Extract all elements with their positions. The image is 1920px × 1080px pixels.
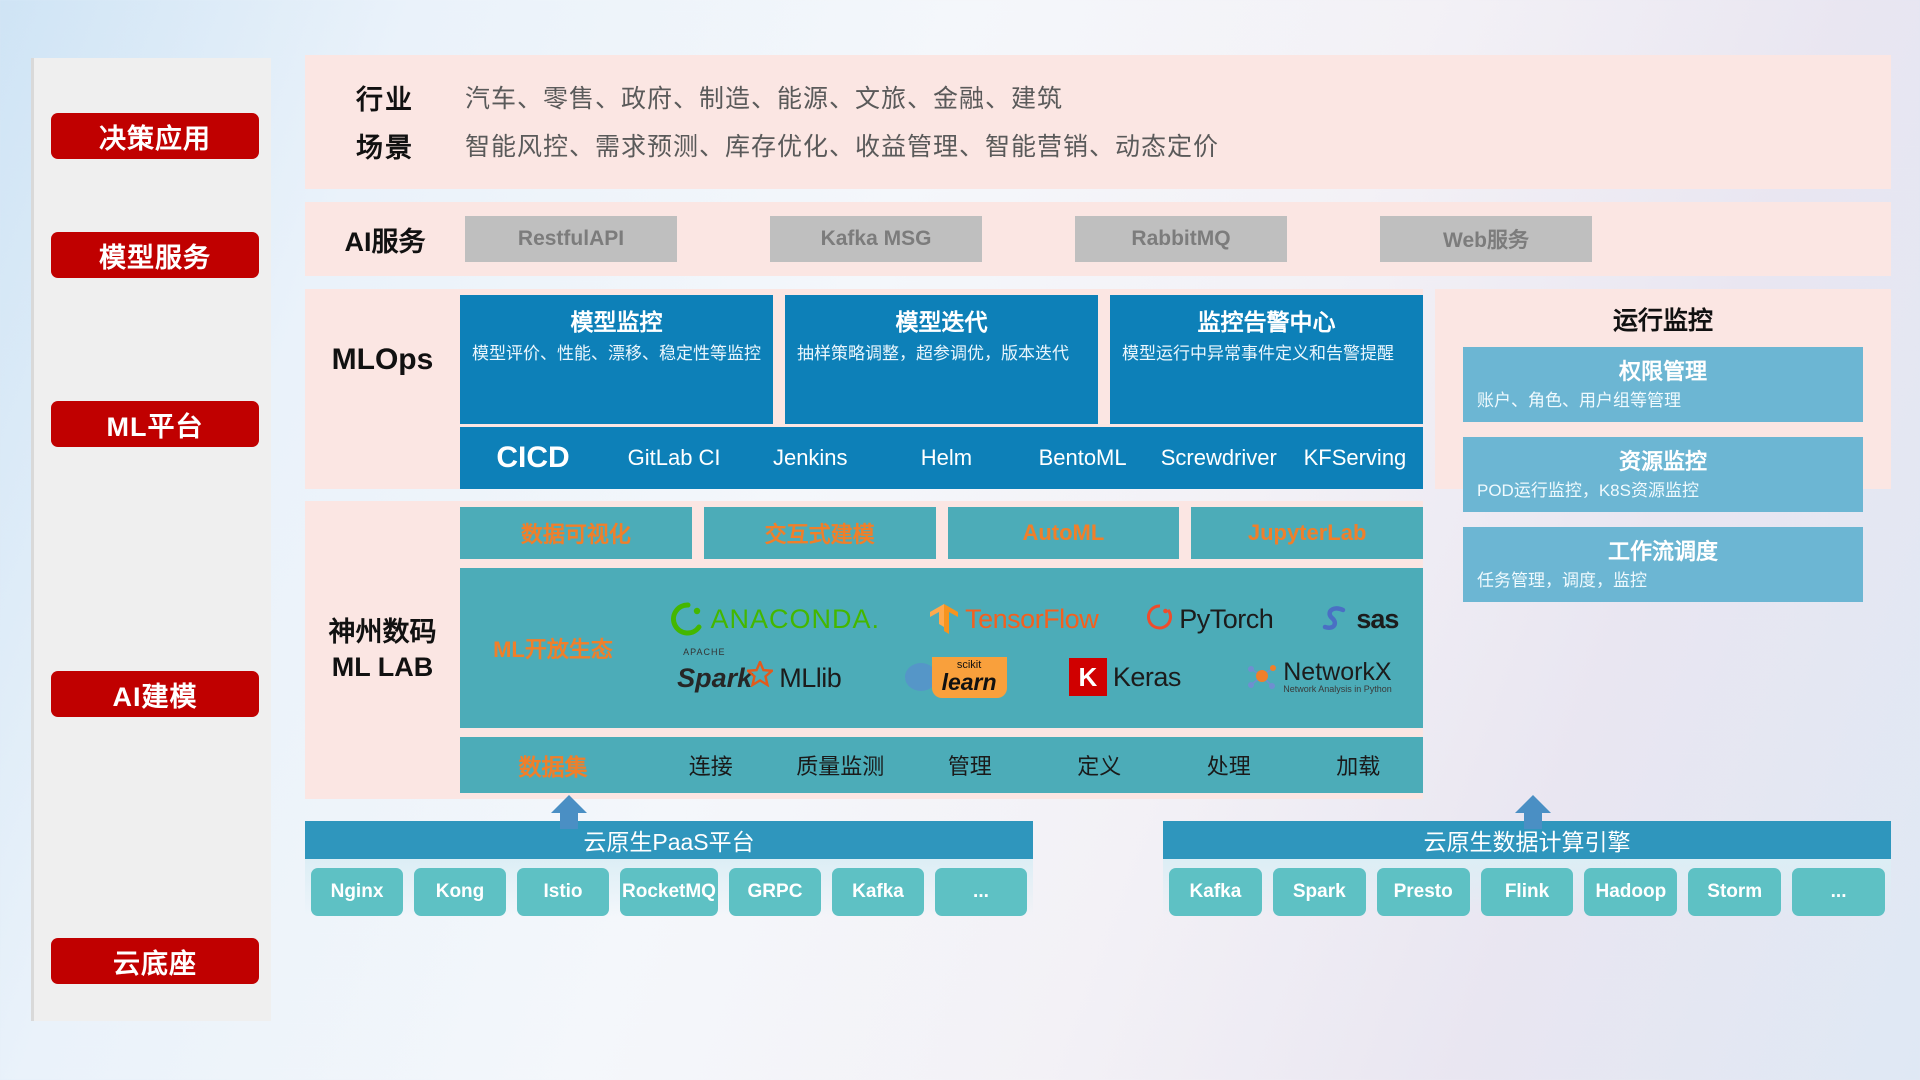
keras-badge-icon: K xyxy=(1069,658,1107,696)
cicd-item-helm[interactable]: Helm xyxy=(878,446,1014,469)
spark-apache-tag: APACHE xyxy=(683,647,725,657)
ml-lab-body: 数据可视化 交互式建模 AutoML JupyterLab ML开放生态 xyxy=(460,501,1423,799)
left-rail: 决策应用 模型服务 ML平台 AI建模 云底座 xyxy=(31,58,271,1021)
card-title: 权限管理 xyxy=(1477,354,1849,386)
arrow-up-paas xyxy=(549,795,589,829)
scenario-row: 场景 智能风控、需求预测、库存优化、收益管理、智能营销、动态定价 xyxy=(305,121,1891,169)
ecosystem-logo-row-1: ANACONDA. TensorFlow xyxy=(646,593,1423,645)
lab-tool-jupyterlab[interactable]: JupyterLab xyxy=(1191,507,1423,559)
sas-logo: sas xyxy=(1322,604,1398,635)
dataset-label: 数据集 xyxy=(460,748,646,782)
networkx-tagline: Network Analysis in Python xyxy=(1283,685,1392,694)
mllib-logo-text: MLlib xyxy=(779,663,841,694)
tensorflow-logo: TensorFlow xyxy=(929,602,1098,636)
mlops-card-model-monitor[interactable]: 模型监控 模型评价、性能、漂移、稳定性等监控 xyxy=(460,295,773,424)
engine-chip-storm[interactable]: Storm xyxy=(1688,868,1781,916)
paas-chip-list: Nginx Kong Istio RocketMQ GRPC Kafka ... xyxy=(305,859,1033,916)
lab-tool-data-visualization[interactable]: 数据可视化 xyxy=(460,507,692,559)
card-desc: 账户、角色、用户组等管理 xyxy=(1477,390,1849,412)
lab-tool-automl[interactable]: AutoML xyxy=(948,507,1180,559)
dataset-item-manage[interactable]: 管理 xyxy=(905,749,1035,781)
lab-tool-interactive-modeling[interactable]: 交互式建模 xyxy=(704,507,936,559)
cicd-row: CICD GitLab CI Jenkins Helm BentoML Scre… xyxy=(460,427,1423,489)
card-title: 模型监控 xyxy=(472,303,761,337)
spark-mllib-logo: APACHE Spark MLlib xyxy=(677,661,841,694)
engine-chip-kafka[interactable]: Kafka xyxy=(1169,868,1262,916)
cloud-base-band: 云原生PaaS平台 Nginx Kong Istio RocketMQ GRPC… xyxy=(305,821,1891,931)
networkx-logo: NetworkX Network Analysis in Python xyxy=(1243,660,1392,694)
ai-button-kafka-msg[interactable]: Kafka MSG xyxy=(770,216,982,262)
anaconda-icon xyxy=(671,602,705,636)
ai-service-label: AI服务 xyxy=(305,220,465,259)
anaconda-logo: ANACONDA. xyxy=(671,602,881,636)
industry-text: 汽车、零售、政府、制造、能源、文旅、金融、建筑 xyxy=(465,79,1063,115)
ai-button-restfulapi[interactable]: RestfulAPI xyxy=(465,216,677,262)
pytorch-icon xyxy=(1147,603,1173,635)
industry-row: 行业 汽车、零售、政府、制造、能源、文旅、金融、建筑 xyxy=(305,73,1891,121)
tensorflow-logo-text: TensorFlow xyxy=(965,604,1098,635)
spark-star-icon xyxy=(747,661,773,687)
networkx-logo-text: NetworkX xyxy=(1283,660,1392,685)
dataset-item-quality-monitoring[interactable]: 质量监测 xyxy=(776,749,906,781)
cicd-item-bentoml[interactable]: BentoML xyxy=(1015,446,1151,469)
engine-chip-spark[interactable]: Spark xyxy=(1273,868,1366,916)
rail-chip-ml-platform[interactable]: ML平台 xyxy=(51,401,259,447)
ai-service-buttons: RestfulAPI Kafka MSG RabbitMQ Web服务 xyxy=(465,216,1891,262)
ml-lab-label-line2: ML LAB xyxy=(332,650,434,685)
dataset-row: 数据集 连接 质量监测 管理 定义 处理 加载 xyxy=(460,737,1423,793)
scenario-label: 场景 xyxy=(305,126,465,165)
data-engine-chip-list: Kafka Spark Presto Flink Hadoop Storm ..… xyxy=(1163,859,1891,916)
cicd-item-jenkins[interactable]: Jenkins xyxy=(742,446,878,469)
paas-chip-istio[interactable]: Istio xyxy=(517,868,609,916)
ai-service-band: AI服务 RestfulAPI Kafka MSG RabbitMQ Web服务 xyxy=(305,202,1891,276)
paas-chip-grpc[interactable]: GRPC xyxy=(729,868,821,916)
dataset-item-define[interactable]: 定义 xyxy=(1035,749,1165,781)
ml-lab-panel: 神州数码 ML LAB 数据可视化 交互式建模 AutoML JupyterLa… xyxy=(305,501,1423,799)
scikit-learn-logo: scikit learn xyxy=(904,657,1007,698)
dataset-item-load[interactable]: 加载 xyxy=(1294,749,1424,781)
cicd-item-gitlab-ci[interactable]: GitLab CI xyxy=(606,446,742,469)
mlops-band: MLOps 模型监控 模型评价、性能、漂移、稳定性等监控 模型迭代 抽样策略调整… xyxy=(305,289,1891,489)
paas-chip-nginx[interactable]: Nginx xyxy=(311,868,403,916)
ecosystem-logo-row-2: APACHE Spark MLlib xyxy=(646,651,1423,703)
engine-chip-more[interactable]: ... xyxy=(1792,868,1885,916)
engine-chip-flink[interactable]: Flink xyxy=(1481,868,1574,916)
pytorch-logo: PyTorch xyxy=(1147,603,1273,635)
dataset-item-process[interactable]: 处理 xyxy=(1164,749,1294,781)
ecosystem-logo-grid: ANACONDA. TensorFlow xyxy=(646,593,1423,703)
paas-chip-kafka[interactable]: Kafka xyxy=(832,868,924,916)
run-monitor-panel: 运行监控 权限管理 账户、角色、用户组等管理 资源监控 POD运行监控，K8S资… xyxy=(1435,289,1891,489)
rail-chip-model-service[interactable]: 模型服务 xyxy=(51,232,259,278)
engine-chip-presto[interactable]: Presto xyxy=(1377,868,1470,916)
mlops-label: MLOps xyxy=(305,295,460,424)
rail-chip-ai-modeling[interactable]: AI建模 xyxy=(51,671,259,717)
mlops-cards: MLOps 模型监控 模型评价、性能、漂移、稳定性等监控 模型迭代 抽样策略调整… xyxy=(305,289,1423,427)
ml-ecosystem: ML开放生态 ANACONDA. xyxy=(460,568,1423,728)
keras-logo: K Keras xyxy=(1069,658,1181,696)
paas-chip-more[interactable]: ... xyxy=(935,868,1027,916)
tensorflow-icon xyxy=(929,602,959,636)
card-title: 资源监控 xyxy=(1477,444,1849,476)
card-desc: 模型运行中异常事件定义和告警提醒 xyxy=(1122,343,1411,366)
ml-lab-band: 神州数码 ML LAB 数据可视化 交互式建模 AutoML JupyterLa… xyxy=(305,501,1891,799)
industry-scenario-band: 行业 汽车、零售、政府、制造、能源、文旅、金融、建筑 场景 智能风控、需求预测、… xyxy=(305,55,1891,189)
sas-icon xyxy=(1322,604,1350,634)
card-title: 模型迭代 xyxy=(797,303,1086,337)
mlops-panel: MLOps 模型监控 模型评价、性能、漂移、稳定性等监控 模型迭代 抽样策略调整… xyxy=(305,289,1423,489)
run-monitor-title: 运行监控 xyxy=(1463,301,1863,337)
cicd-label: CICD xyxy=(460,441,606,475)
sas-logo-text: sas xyxy=(1356,604,1398,635)
mlops-card-model-iteration[interactable]: 模型迭代 抽样策略调整，超参调优，版本迭代 xyxy=(785,295,1098,424)
card-desc: POD运行监控，K8S资源监控 xyxy=(1477,480,1849,502)
paas-chip-rocketmq[interactable]: RocketMQ xyxy=(620,868,718,916)
ai-button-rabbitmq[interactable]: RabbitMQ xyxy=(1075,216,1287,262)
engine-chip-hadoop[interactable]: Hadoop xyxy=(1584,868,1677,916)
scenario-text: 智能风控、需求预测、库存优化、收益管理、智能营销、动态定价 xyxy=(465,127,1219,163)
mlops-card-alert-center[interactable]: 监控告警中心 模型运行中异常事件定义和告警提醒 xyxy=(1110,295,1423,424)
ml-lab-label-line1: 神州数码 xyxy=(329,615,437,650)
cicd-item-kfserving[interactable]: KFServing xyxy=(1287,446,1423,469)
ml-ecosystem-label: ML开放生态 xyxy=(460,632,646,664)
scikit-learn-logo-text: learn xyxy=(942,671,997,694)
monitor-card-permission[interactable]: 权限管理 账户、角色、用户组等管理 xyxy=(1463,347,1863,422)
rail-chip-cloud-base[interactable]: 云底座 xyxy=(51,938,259,984)
industry-label: 行业 xyxy=(305,78,465,117)
arrow-up-data-engine xyxy=(1513,795,1553,829)
data-engine-column: 云原生数据计算引擎 Kafka Spark Presto Flink Hadoo… xyxy=(1163,821,1891,931)
keras-logo-text: Keras xyxy=(1113,662,1181,693)
paas-platform-column: 云原生PaaS平台 Nginx Kong Istio RocketMQ GRPC… xyxy=(305,821,1033,931)
ml-lab-label: 神州数码 ML LAB xyxy=(305,501,460,799)
networkx-graph-icon xyxy=(1243,661,1277,693)
card-title: 监控告警中心 xyxy=(1122,303,1411,337)
ai-button-web-service[interactable]: Web服务 xyxy=(1380,216,1592,262)
dataset-item-connect[interactable]: 连接 xyxy=(646,749,776,781)
ml-lab-tools: 数据可视化 交互式建模 AutoML JupyterLab xyxy=(460,507,1423,559)
paas-chip-kong[interactable]: Kong xyxy=(414,868,506,916)
anaconda-logo-text: ANACONDA. xyxy=(711,604,881,635)
paas-platform-title: 云原生PaaS平台 xyxy=(305,821,1033,859)
cicd-item-screwdriver[interactable]: Screwdriver xyxy=(1151,446,1287,469)
rail-chip-decision-app[interactable]: 决策应用 xyxy=(51,113,259,159)
card-desc: 模型评价、性能、漂移、稳定性等监控 xyxy=(472,343,761,366)
main-diagram: 行业 汽车、零售、政府、制造、能源、文旅、金融、建筑 场景 智能风控、需求预测、… xyxy=(305,55,1891,931)
spark-logo-text: Spark xyxy=(677,663,752,694)
card-desc: 抽样策略调整，超参调优，版本迭代 xyxy=(797,343,1086,366)
pytorch-logo-text: PyTorch xyxy=(1179,604,1273,635)
